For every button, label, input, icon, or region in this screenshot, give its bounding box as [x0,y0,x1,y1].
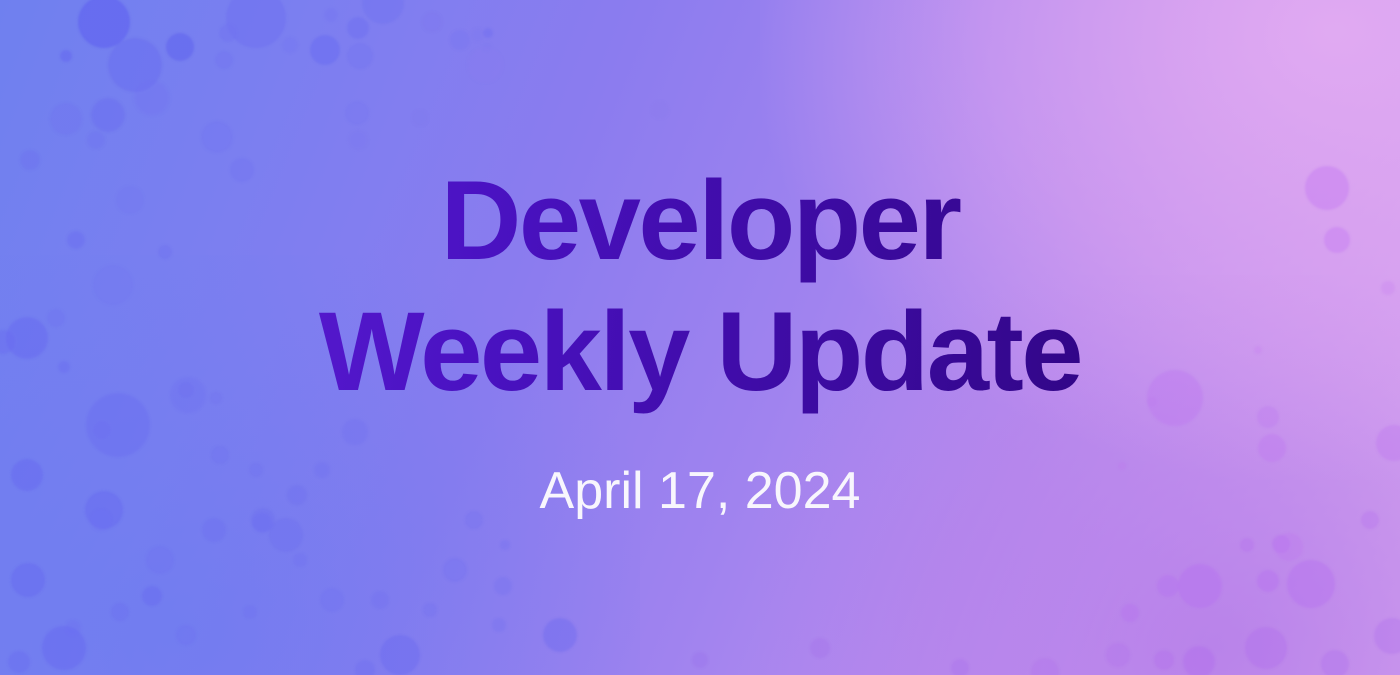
issue-date: April 17, 2024 [540,463,861,520]
page-title: Developer Weekly Update [319,155,1081,417]
banner-content: Developer Weekly Update April 17, 2024 [0,0,1400,675]
developer-weekly-update-banner: Developer Weekly Update April 17, 2024 [0,0,1400,675]
